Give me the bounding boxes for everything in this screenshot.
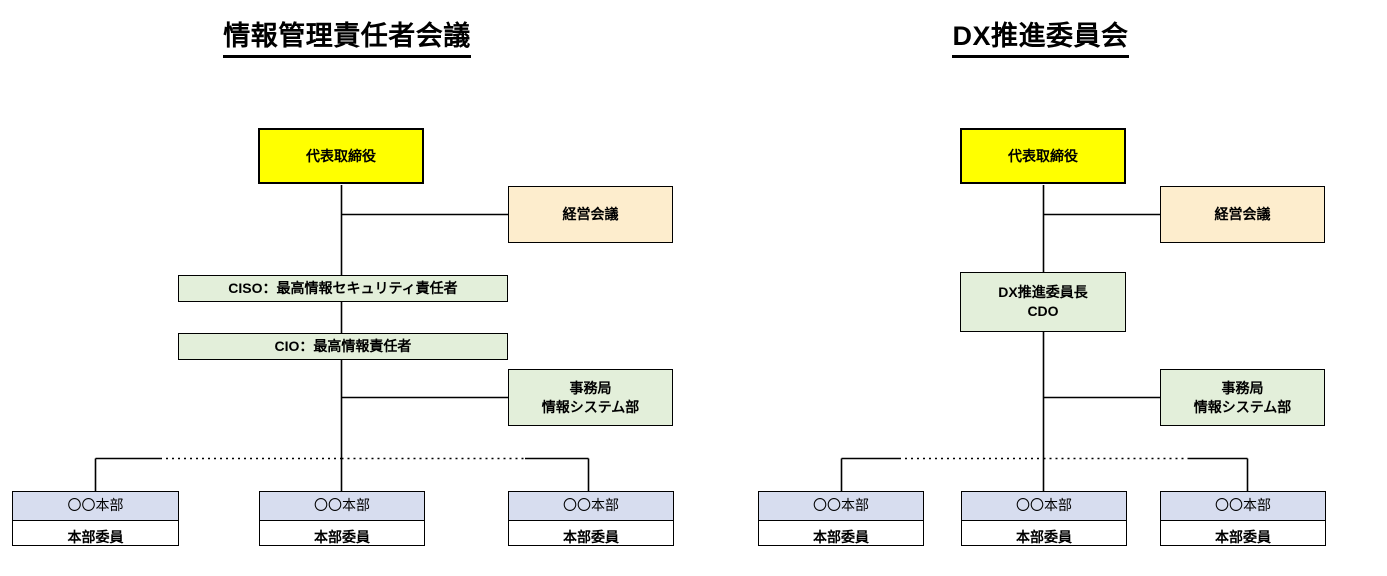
node-cio[interactable]: CIO：最高情報責任者 bbox=[178, 333, 508, 360]
node-department-right-3-head: 〇〇本部 bbox=[1161, 492, 1325, 521]
node-dx-chair[interactable]: DX推進委員長 CDO bbox=[960, 272, 1126, 332]
node-executive-right[interactable]: 代表取締役 bbox=[960, 128, 1126, 184]
node-dx-chair-line2: CDO bbox=[961, 302, 1125, 321]
node-department-left-2[interactable]: 〇〇本部 本部委員 bbox=[259, 491, 425, 546]
node-secretariat-left-line2: 情報システム部 bbox=[509, 398, 672, 417]
node-management-meeting-right-label: 経営会議 bbox=[1161, 205, 1324, 224]
node-department-right-1-body: 本部委員 bbox=[759, 521, 923, 555]
chart-information-management-council: 情報管理責任者会議 代表取締役 経営会議 CISO：最高情報セキュリティ責任者 … bbox=[0, 0, 694, 576]
node-department-left-3-body: 本部委員 bbox=[509, 521, 673, 555]
node-executive-left[interactable]: 代表取締役 bbox=[258, 128, 424, 184]
chart-title-left: 情報管理責任者会議 bbox=[0, 14, 694, 58]
chart-title-left-text: 情報管理責任者会議 bbox=[223, 14, 471, 58]
node-department-right-2[interactable]: 〇〇本部 本部委員 bbox=[961, 491, 1127, 546]
node-department-left-3-head: 〇〇本部 bbox=[509, 492, 673, 521]
node-dx-chair-line1: DX推進委員長 bbox=[961, 283, 1125, 302]
node-secretariat-right-line1: 事務局 bbox=[1161, 379, 1324, 398]
chart-title-right-text: DX推進委員会 bbox=[952, 14, 1128, 58]
node-executive-left-label: 代表取締役 bbox=[260, 147, 422, 166]
node-management-meeting-right[interactable]: 経営会議 bbox=[1160, 186, 1325, 243]
node-cio-label: CIO：最高情報責任者 bbox=[179, 337, 507, 356]
node-executive-right-label: 代表取締役 bbox=[962, 147, 1124, 166]
chart-title-right: DX推進委員会 bbox=[694, 14, 1387, 58]
node-department-right-3[interactable]: 〇〇本部 本部委員 bbox=[1160, 491, 1326, 546]
node-management-meeting-left[interactable]: 経営会議 bbox=[508, 186, 673, 243]
node-department-right-1-head: 〇〇本部 bbox=[759, 492, 923, 521]
node-secretariat-left[interactable]: 事務局 情報システム部 bbox=[508, 369, 673, 426]
node-department-right-2-body: 本部委員 bbox=[962, 521, 1126, 555]
node-department-right-2-head: 〇〇本部 bbox=[962, 492, 1126, 521]
node-department-left-1-head: 〇〇本部 bbox=[13, 492, 178, 521]
node-secretariat-left-line1: 事務局 bbox=[509, 379, 672, 398]
node-department-right-1[interactable]: 〇〇本部 本部委員 bbox=[758, 491, 924, 546]
node-department-left-2-head: 〇〇本部 bbox=[260, 492, 424, 521]
node-ciso[interactable]: CISO：最高情報セキュリティ責任者 bbox=[178, 275, 508, 302]
node-department-right-3-body: 本部委員 bbox=[1161, 521, 1325, 555]
node-department-left-3[interactable]: 〇〇本部 本部委員 bbox=[508, 491, 674, 546]
node-department-left-1-body: 本部委員 bbox=[13, 521, 178, 555]
node-secretariat-right-line2: 情報システム部 bbox=[1161, 398, 1324, 417]
chart-dx-promotion-committee: DX推進委員会 代表取締役 経営会議 DX推進委員長 CDO 事務局 情報システ… bbox=[694, 0, 1387, 576]
node-ciso-label: CISO：最高情報セキュリティ責任者 bbox=[179, 279, 507, 298]
node-secretariat-right[interactable]: 事務局 情報システム部 bbox=[1160, 369, 1325, 426]
node-department-left-2-body: 本部委員 bbox=[260, 521, 424, 555]
node-management-meeting-left-label: 経営会議 bbox=[509, 205, 672, 224]
node-department-left-1[interactable]: 〇〇本部 本部委員 bbox=[12, 491, 179, 546]
